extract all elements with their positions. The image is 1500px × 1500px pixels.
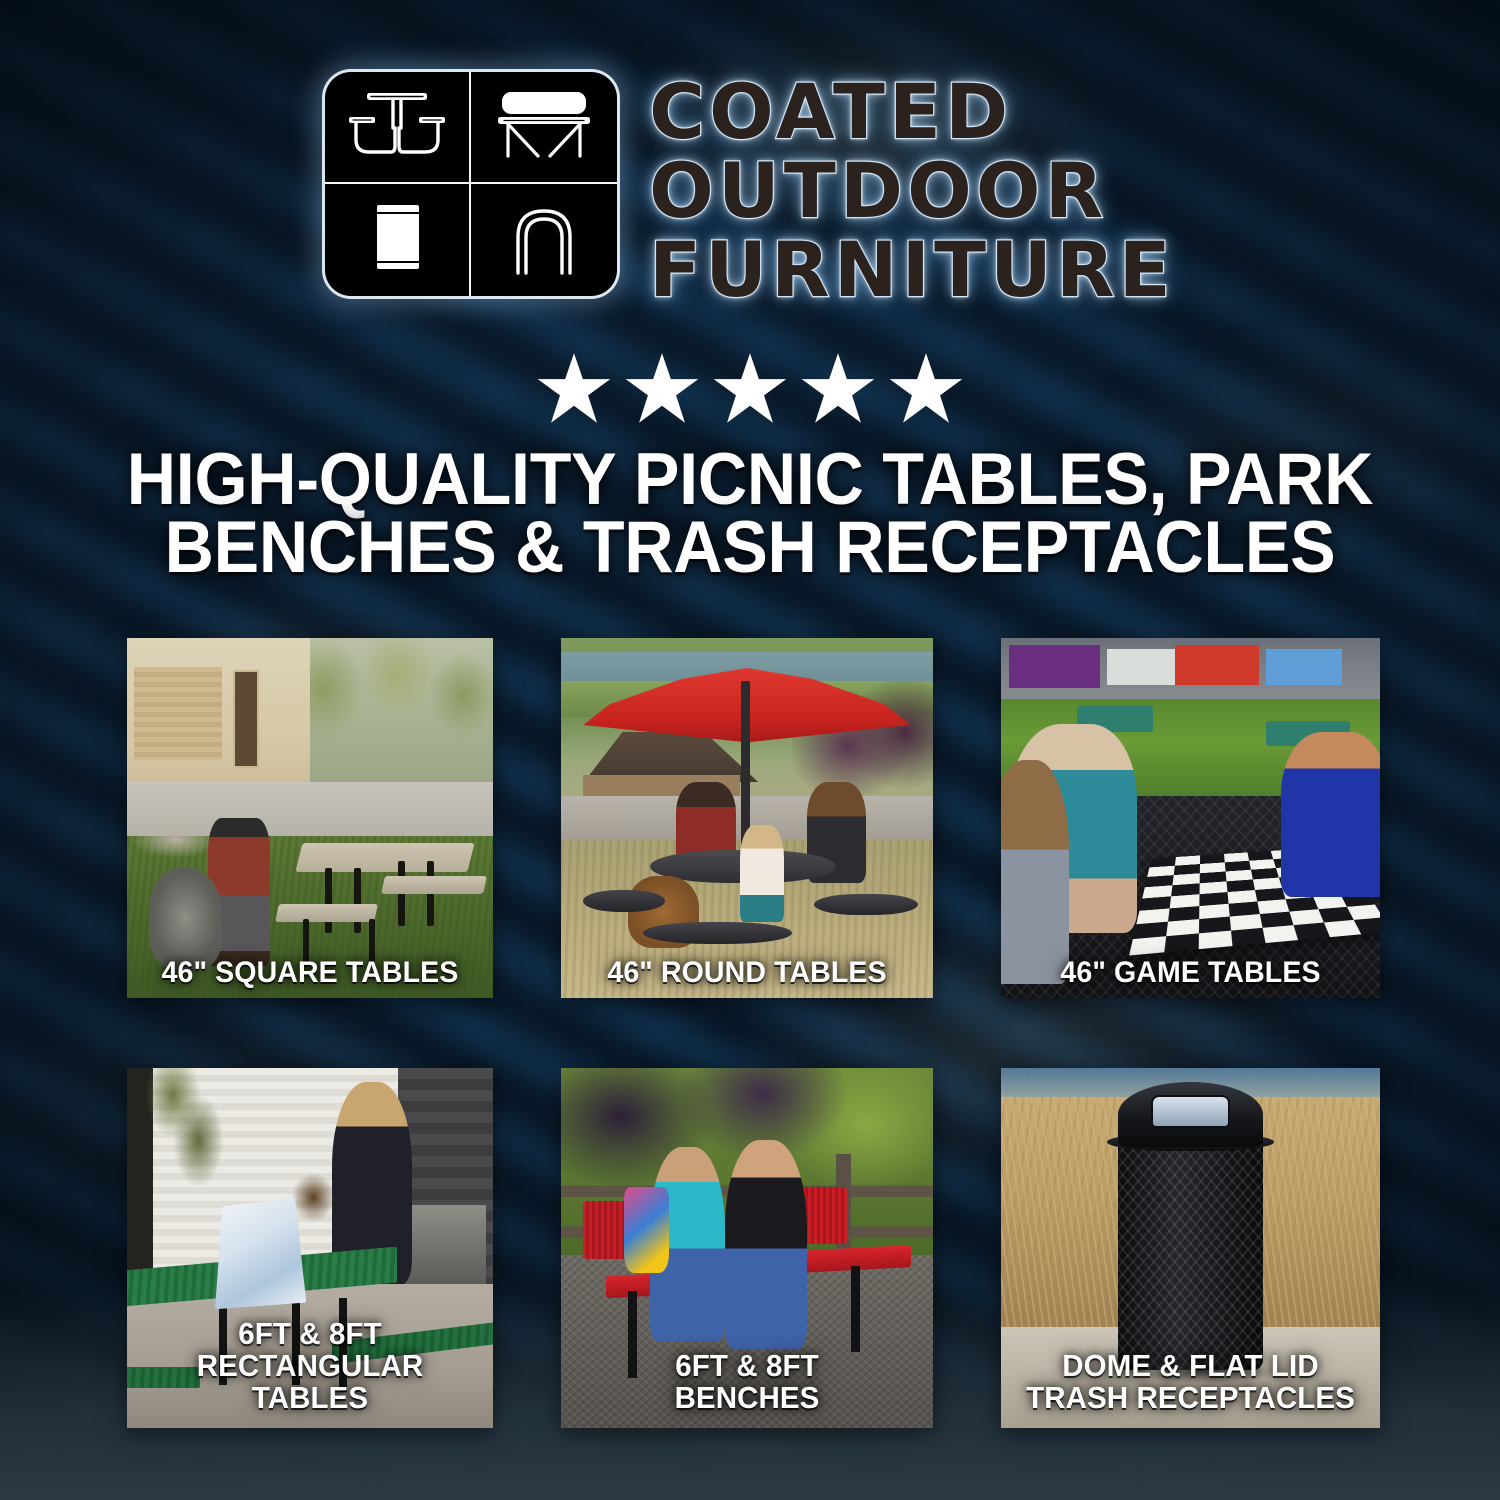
picnic-table-front-icon [325, 72, 471, 184]
brand-line-3: FURNITURE [649, 232, 1175, 307]
product-tile-trash-receptacles[interactable]: DOME & FLAT LID TRASH RECEPTACLES [1001, 1068, 1380, 1428]
product-tile-game-tables[interactable]: 46" GAME TABLES [1001, 638, 1380, 998]
star-icon [889, 352, 963, 424]
promo-page: COATED OUTDOOR FURNITURE HIGH-QUALITY PI… [0, 0, 1500, 1500]
caption-line: 46" ROUND TABLES [574, 958, 920, 988]
star-icon [625, 352, 699, 424]
headline-line-1: HIGH-QUALITY PICNIC TABLES, PARK [105, 446, 1395, 514]
star-rating [0, 352, 1500, 424]
brand-line-1: COATED [649, 74, 1012, 149]
caption-line: 46" SQUARE TABLES [140, 958, 480, 988]
caption-line: 46" GAME TABLES [1014, 958, 1366, 988]
product-photo-square-tables [127, 638, 493, 998]
product-tile-round-tables[interactable]: 46" ROUND TABLES [561, 638, 933, 998]
brand-logo: COATED OUTDOOR FURNITURE [0, 72, 1500, 308]
product-grid: 46" SQUARE TABLES 46" ROUND TABLES [127, 638, 1379, 1428]
product-caption-benches: 6FT & 8FT BENCHES [574, 1350, 920, 1414]
product-caption-game-tables: 46" GAME TABLES [1014, 958, 1366, 988]
brand-line-2: OUTDOOR [649, 153, 1107, 228]
page-title: HIGH-QUALITY PICNIC TABLES, PARK BENCHES… [105, 446, 1395, 582]
product-caption-rectangular-tables: 6FT & 8FT RECTANGULAR TABLES [140, 1318, 480, 1414]
picnic-table-side-icon [471, 72, 617, 184]
product-tile-square-tables[interactable]: 46" SQUARE TABLES [127, 638, 493, 998]
caption-line: 6FT & 8FT [574, 1350, 920, 1382]
product-photo-round-tables [561, 638, 933, 998]
star-icon [537, 352, 611, 424]
caption-line: BENCHES [574, 1382, 920, 1414]
product-caption-trash-receptacles: DOME & FLAT LID TRASH RECEPTACLES [1014, 1350, 1366, 1414]
product-caption-round-tables: 46" ROUND TABLES [574, 958, 920, 988]
product-photo-game-tables [1001, 638, 1380, 998]
caption-line: 6FT & 8FT [140, 1318, 480, 1350]
product-tile-benches[interactable]: 6FT & 8FT BENCHES [561, 1068, 933, 1428]
caption-line: TRASH RECEPTACLES [1014, 1382, 1366, 1414]
star-icon [713, 352, 787, 424]
logo-mark [325, 72, 617, 296]
star-icon [801, 352, 875, 424]
trash-receptacle-icon [325, 184, 471, 296]
product-tile-rectangular-tables[interactable]: 6FT & 8FT RECTANGULAR TABLES [127, 1068, 493, 1428]
caption-line: RECTANGULAR TABLES [140, 1350, 480, 1414]
caption-line: DOME & FLAT LID [1014, 1350, 1366, 1382]
brand-wordmark: COATED OUTDOOR FURNITURE [649, 72, 1175, 308]
headline-line-2: BENCHES & TRASH RECEPTACLES [105, 514, 1395, 582]
product-caption-square-tables: 46" SQUARE TABLES [140, 958, 480, 988]
bike-rack-arch-icon [471, 184, 617, 296]
